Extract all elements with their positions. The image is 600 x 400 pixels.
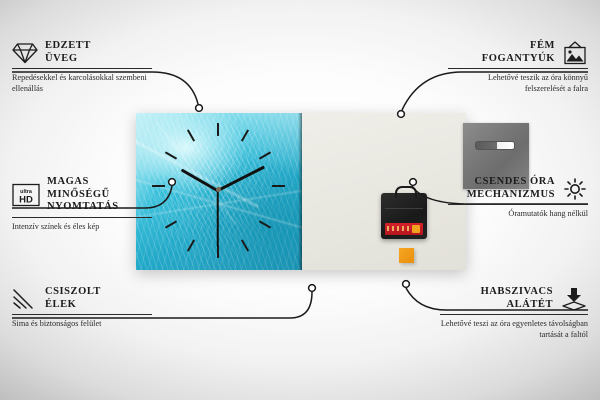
foam-spacer-pad (399, 248, 414, 263)
callout-description: Lehetővé teszik az óra könnyű felszerelé… (448, 73, 588, 94)
battery-plus-terminal (412, 225, 420, 233)
callout-description: Lehetővé teszi az óra egyenletes távolsá… (440, 319, 588, 340)
battery (385, 223, 423, 235)
callout-title: CSENDES ÓRA MECHANIZMUS (467, 176, 555, 201)
hanger-slot (475, 141, 515, 150)
callout-title: HABSZIVACS ALÁTÉT (481, 286, 553, 311)
callout-divider (448, 68, 588, 69)
wire-dot-tempered-glass (196, 105, 203, 112)
callout-header: FÉM FOGANTYÚK (448, 40, 588, 65)
diamond-icon (12, 42, 38, 64)
clock-front-panel (136, 113, 302, 270)
callout-header: EDZETT ÜVEG (12, 40, 152, 65)
battery-label (387, 226, 413, 231)
callout-high-quality-print: ultra HD MAGAS MINŐSÉGŰ NYOMTATÁS Intenz… (12, 176, 152, 232)
callout-title: CSISZOLT ÉLEK (45, 286, 101, 311)
svg-text:HD: HD (19, 194, 33, 205)
callout-divider (440, 314, 588, 315)
callout-header: CSISZOLT ÉLEK (12, 286, 152, 311)
tick-3 (272, 185, 285, 187)
second-hand (217, 191, 219, 247)
clock-back-panel (302, 113, 466, 270)
callout-description: Óramutatók hang nélkül (448, 209, 588, 220)
callout-metal-handles: FÉM FOGANTYÚK Lehetővé teszik az óra kön… (448, 40, 588, 94)
callout-silent-mechanism: CSENDES ÓRA MECHANIZMUS Óramutatók hang … (448, 176, 588, 220)
callout-title: FÉM FOGANTYÚK (482, 40, 555, 65)
callout-header: CSENDES ÓRA MECHANIZMUS (448, 176, 588, 201)
callout-description: Sima és biztonságos felület (12, 319, 152, 330)
callout-polished-edges: CSISZOLT ÉLEK Sima és biztonságos felüle… (12, 286, 152, 330)
callout-title: EDZETT ÜVEG (45, 40, 91, 65)
callout-divider (12, 217, 152, 218)
quartz-mechanism (381, 193, 427, 239)
polished-edges-icon (12, 288, 38, 310)
ultra-hd-icon: ultra HD (12, 183, 40, 207)
callout-foam-pad: HABSZIVACS ALÁTÉT Lehetővé teszi az óra … (440, 286, 588, 340)
hands-center-cap (216, 187, 221, 192)
tick-12 (217, 123, 219, 136)
product-image-group (136, 113, 466, 270)
hanger-plate-icon (562, 41, 588, 65)
callout-divider (12, 314, 152, 315)
callout-header: HABSZIVACS ALÁTÉT (440, 286, 588, 311)
infographic-canvas: EDZETT ÜVEG Repedésekkel és karcolásokka… (0, 0, 600, 400)
callout-tempered-glass: EDZETT ÜVEG Repedésekkel és karcolásokka… (12, 40, 152, 94)
callout-divider (448, 204, 588, 205)
mechanism-hook (395, 186, 417, 198)
tick-9 (152, 185, 165, 187)
wire-dot-edges (309, 285, 316, 292)
callout-description: Intenzív színek és éles kép (12, 222, 152, 233)
mechanism-seam (385, 208, 423, 209)
callout-header: ultra HD MAGAS MINŐSÉGŰ NYOMTATÁS (12, 176, 152, 214)
wire-dot-foam (403, 281, 410, 288)
tick-6 (217, 245, 219, 258)
gear-icon (562, 177, 588, 201)
foam-pad-icon (560, 287, 588, 311)
callout-divider (12, 68, 152, 69)
callout-title: MAGAS MINŐSÉGŰ NYOMTATÁS (47, 176, 152, 214)
callout-description: Repedésekkel és karcolásokkal szembeni e… (12, 73, 152, 94)
